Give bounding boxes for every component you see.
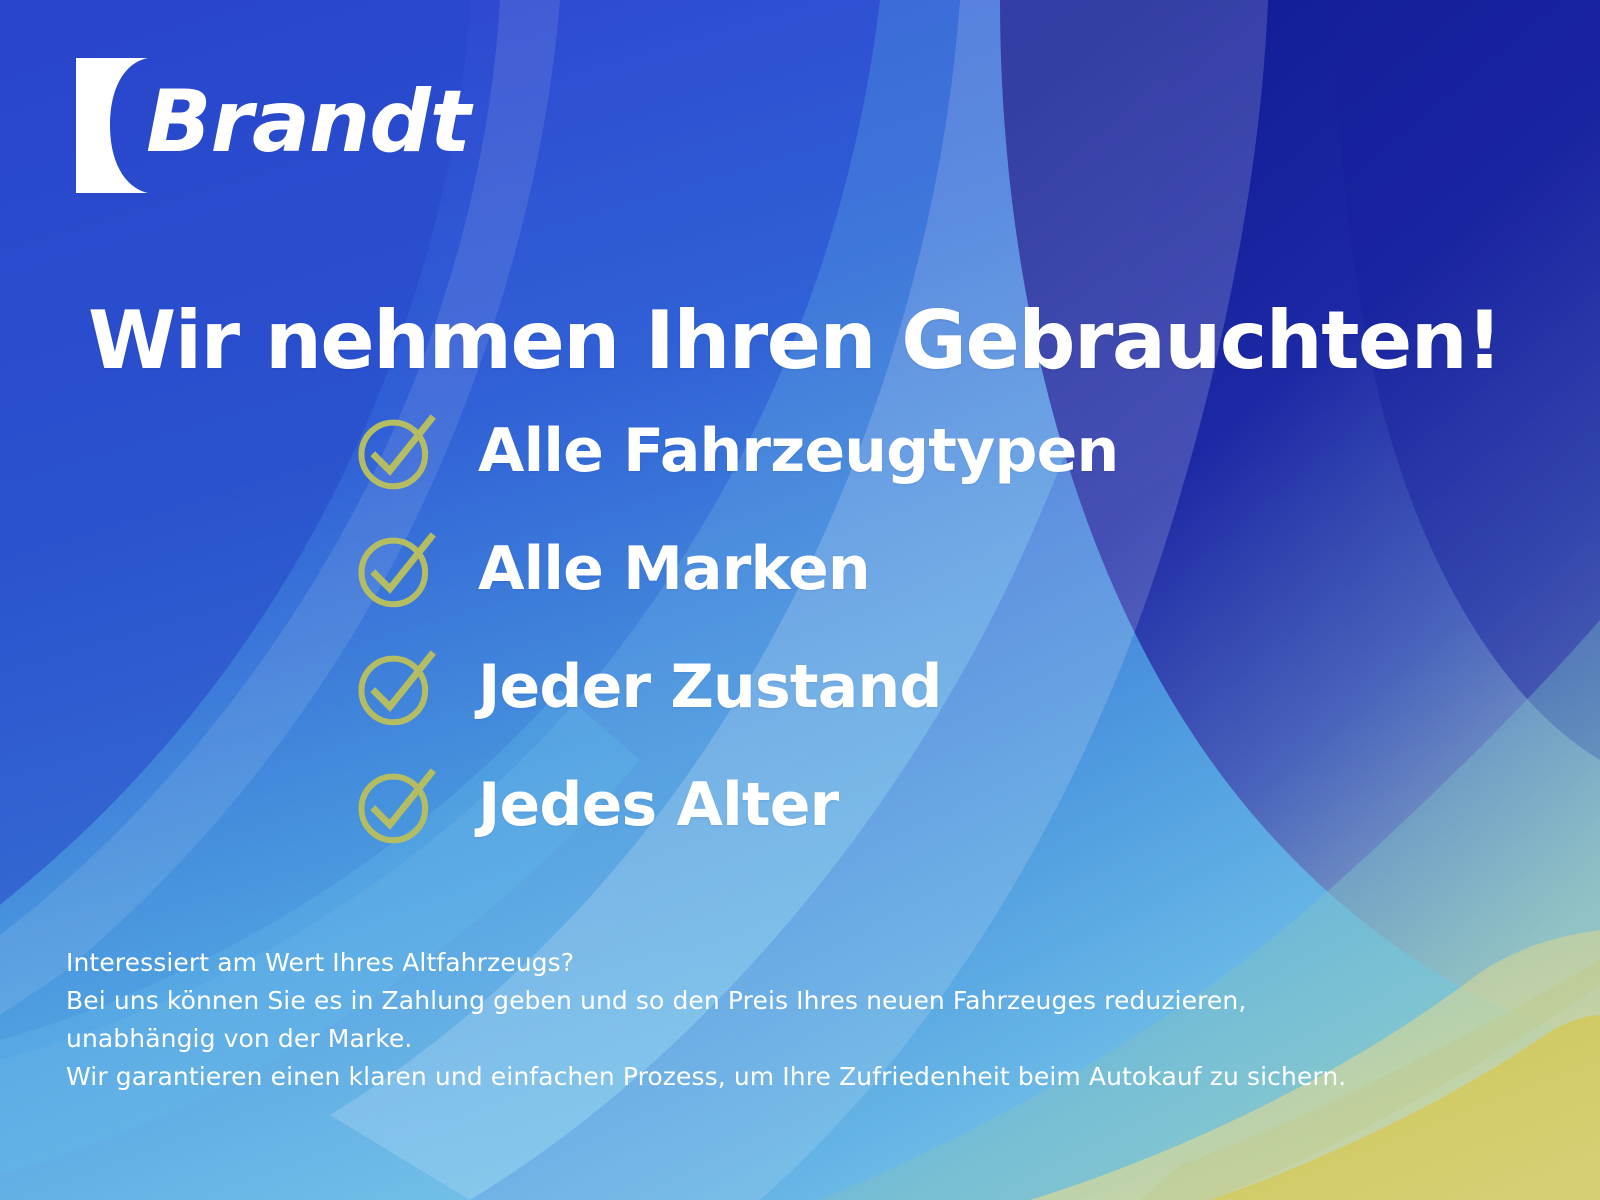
footer-line: unabhängig von der Marke.: [66, 1020, 1486, 1058]
footer-line: Bei uns können Sie es in Zahlung geben u…: [66, 982, 1486, 1020]
footer-line: Interessiert am Wert Ihres Altfahrzeugs?: [66, 944, 1486, 982]
benefit-label: Alle Marken: [478, 539, 870, 599]
list-item: Jedes Alter: [352, 746, 1118, 864]
benefits-list: Alle Fahrzeugtypen Alle Marken Jeder Zus…: [352, 392, 1118, 864]
page-title: Wir nehmen Ihren Gebrauchten!: [88, 299, 1501, 383]
footer-line: Wir garantieren einen klaren und einfach…: [66, 1058, 1486, 1096]
promo-poster: Brandt Wir nehmen Ihren Gebrauchten! All…: [0, 0, 1600, 1200]
list-item: Alle Fahrzeugtypen: [352, 392, 1118, 510]
check-circle-icon: [352, 762, 438, 848]
brand-logo: Brandt: [70, 55, 470, 195]
brandt-crescent-mark-icon: [70, 58, 150, 193]
benefit-label: Jeder Zustand: [478, 657, 942, 717]
benefit-label: Jedes Alter: [478, 775, 838, 835]
benefit-label: Alle Fahrzeugtypen: [478, 421, 1118, 481]
brand-wordmark: Brandt: [146, 79, 470, 171]
footer-paragraph: Interessiert am Wert Ihres Altfahrzeugs?…: [66, 944, 1486, 1096]
check-circle-icon: [352, 644, 438, 730]
poster-content: Brandt Wir nehmen Ihren Gebrauchten! All…: [0, 0, 1600, 1200]
check-circle-icon: [352, 526, 438, 612]
check-circle-icon: [352, 408, 438, 494]
list-item: Alle Marken: [352, 510, 1118, 628]
list-item: Jeder Zustand: [352, 628, 1118, 746]
